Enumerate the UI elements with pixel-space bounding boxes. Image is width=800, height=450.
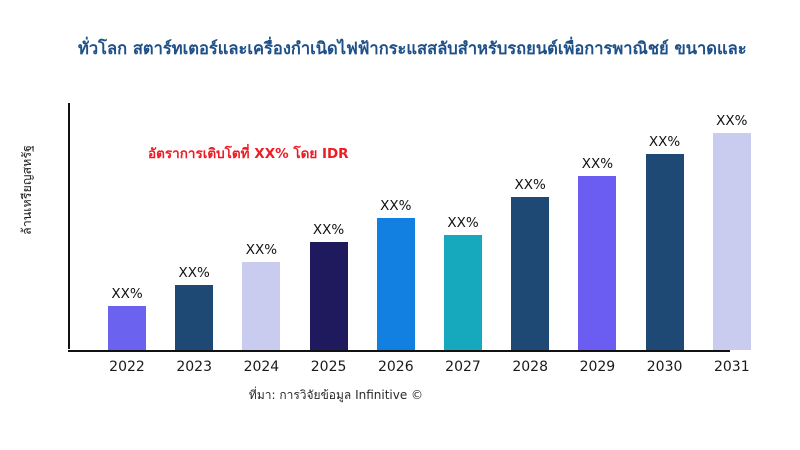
bar-2027 xyxy=(444,235,482,351)
plot-area: XX%XX%XX%XX%XX%XX%XX%XX%XX%XX% 202220232… xyxy=(68,100,780,352)
bar-value-label-2026: XX% xyxy=(361,198,431,214)
x-tick-2024: 2024 xyxy=(226,359,296,375)
x-tick-2025: 2025 xyxy=(294,359,364,375)
bar-2024 xyxy=(242,262,280,351)
y-axis-label: ล้านเหรียญสหรัฐ xyxy=(17,100,37,280)
x-tick-2031: 2031 xyxy=(697,359,767,375)
bar-chart: ทั่วโลก สตาร์ทเตอร์และเครื่องกำเนิดไฟฟ้า… xyxy=(0,0,800,450)
bar-2023 xyxy=(175,285,213,350)
bar-2030 xyxy=(646,154,684,350)
bar-value-label-2028: XX% xyxy=(495,177,565,193)
bar-value-label-2024: XX% xyxy=(226,242,296,258)
bar-value-label-2031: XX% xyxy=(697,113,767,129)
bar-value-label-2025: XX% xyxy=(294,222,364,238)
x-tick-2026: 2026 xyxy=(361,359,431,375)
x-axis-line xyxy=(68,350,730,352)
x-tick-2028: 2028 xyxy=(495,359,565,375)
x-tick-2029: 2029 xyxy=(562,359,632,375)
bar-value-label-2022: XX% xyxy=(92,286,162,302)
bar-value-label-2030: XX% xyxy=(630,134,700,150)
bar-2031 xyxy=(713,133,751,351)
bar-value-label-2023: XX% xyxy=(159,265,229,281)
bar-2022 xyxy=(108,306,146,350)
chart-title: ทั่วโลก สตาร์ทเตอร์และเครื่องกำเนิดไฟฟ้า… xyxy=(78,38,800,59)
bar-value-label-2027: XX% xyxy=(428,215,498,231)
bar-2026 xyxy=(377,218,415,350)
bar-2028 xyxy=(511,197,549,350)
x-tick-2030: 2030 xyxy=(630,359,700,375)
x-tick-2023: 2023 xyxy=(159,359,229,375)
bar-2029 xyxy=(578,176,616,350)
y-axis-line xyxy=(68,103,70,349)
bar-value-label-2029: XX% xyxy=(562,156,632,172)
source-note: ที่มา: การวิจัยข้อมูล Infinitive © xyxy=(0,386,672,405)
x-tick-2022: 2022 xyxy=(92,359,162,375)
bar-2025 xyxy=(310,242,348,351)
x-tick-2027: 2027 xyxy=(428,359,498,375)
